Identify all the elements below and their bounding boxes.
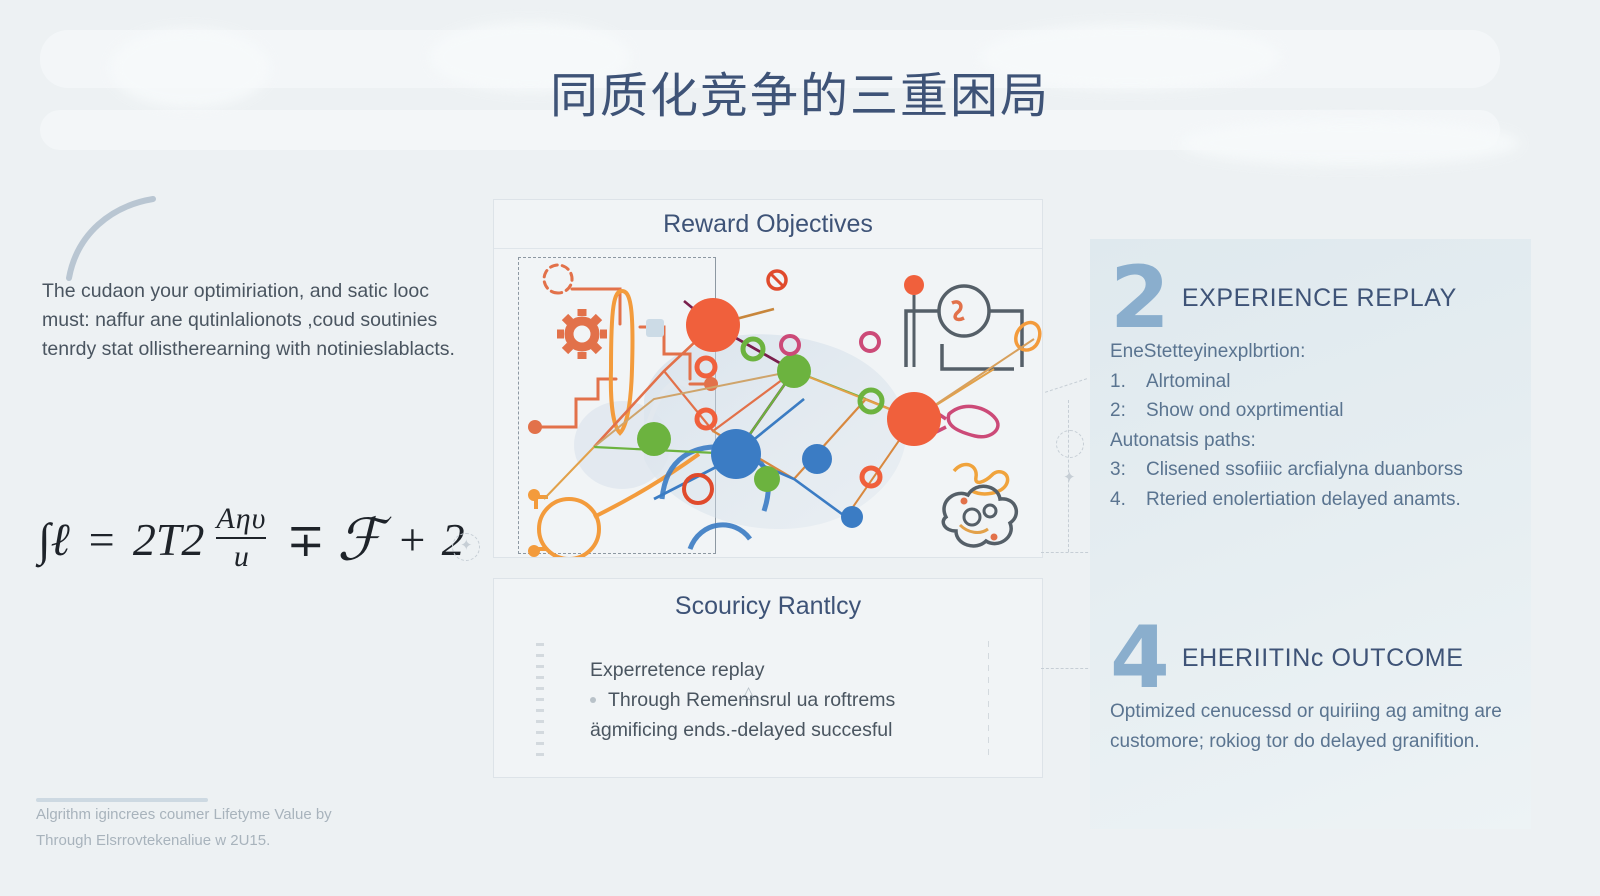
squiggle-icon [954,464,1008,493]
secondary-card: Scouricy Rantlcy △ Experretence replay T… [493,578,1043,778]
graph-node-blue-small [841,506,863,528]
graph-node-pink-ring-2 [861,333,879,351]
section-list-secondary: 3: Clisened ssofiiic arcfialyna duanbors… [1110,455,1520,514]
section-intro: EneStetteyinexplbrtion: [1110,337,1520,367]
list-text: Show ond oxprtimential [1146,396,1520,426]
vertical-dot-marker [536,643,544,761]
person-face-mark [952,302,964,320]
flask-icon [1016,323,1040,351]
list-item: Through Remennsrul ua roftrems [590,685,990,715]
decorative-ring-mid [1056,430,1084,458]
graph-node-green-ring [860,390,882,412]
section-number: 2 [1110,259,1168,337]
slide-canvas: 同质化竞争的三重困局 The cudaon your optimiriation… [0,0,1600,896]
panel-section-experience-replay: 2 EXPERIENCE REPLAY EneStetteyinexplbrti… [1110,259,1520,514]
formula-denominator: u [216,541,266,573]
graph-node-blue-large [711,429,761,479]
graph-node-green-a [777,354,811,388]
footnote-line-1: Algrithm iɡincrees coumer Lifetyme Value… [36,802,436,828]
list-index: 1. [1110,367,1136,397]
formula-coefficient: 2Т2 [133,514,205,565]
bg-blob-d [1180,120,1520,166]
list-text: Rteried enolertiation delayed anamts. [1146,485,1520,515]
panel-section-header: 4 EHERIITINc OUTCOME [1110,619,1520,697]
section-list-primary: 1. Alrtominal 2: Show ond oxprtimential [1110,367,1520,426]
sparkle-icon-left: ✦ [460,536,473,554]
list-item: ägmificing ends.-delayed succesful [590,715,990,745]
secondary-card-lines: Experretence replay Through Remennsrul u… [590,655,990,745]
graph-node-orange-large [686,298,740,352]
graph-node-orange-top [904,275,924,295]
footnote-line-2: Through Elsrrovtekenaliue w 2U15. [36,828,436,854]
reward-objectives-header: Reward Objectives [494,200,1042,249]
section-title: EXPERIENCE REPLAY [1182,284,1457,313]
section-title: EHERIITINc OUTCOME [1182,644,1464,673]
page-title: 同质化竞争的三重困局 [0,56,1600,126]
connector-bottom [1041,668,1093,669]
graph-node-green-b [637,422,671,456]
secondary-card-header: Scouricy Rantlcy [494,579,1042,633]
reward-objectives-body [494,249,1042,557]
connector-top [1041,552,1093,553]
graph-node-orange-large-2 [887,392,941,446]
hull-shape [644,334,906,529]
list-index: 3: [1110,455,1136,485]
person-icon [906,286,1022,369]
secondary-card-body: △ Experretence replay Through Remennsrul… [494,633,1042,773]
formula-fraction-bar [216,537,266,539]
ribbon-icon [934,406,998,436]
graph-node-blue-mid [802,444,832,474]
list-item: Experretence replay [590,655,990,685]
formula-fraction: Aηυ u [216,503,266,572]
decorative-arc-icon [55,190,160,285]
graph-node-green-c [754,466,780,492]
list-item: 1. Alrtominal [1110,367,1520,397]
sparkle-icon-mid: ✦ [1063,468,1076,486]
formula-plus: + [397,514,428,565]
formula-script-symbol: ℱ [337,506,383,574]
circuit-dot-a [528,420,542,434]
connector-sub [1045,378,1087,393]
list-item: 3: Clisened ssofiiic arcfialyna duanbors… [1110,455,1520,485]
formula-operator: ∓ [286,515,325,566]
formula-expression: ∫ℓ = 2Т2 Aηυ u ∓ ℱ + 2 [38,505,458,585]
right-panel: 2 EXPERIENCE REPLAY EneStetteyinexplbrti… [1090,239,1531,829]
panel-section-body: Optimized сenucessd or quiriing ag amitn… [1110,697,1520,756]
list-item: 2: Show ond oxprtimential [1110,396,1520,426]
footnote: Algrithm iɡincrees coumer Lifetyme Value… [36,802,436,854]
brain-detail [960,498,998,541]
section-number: 4 [1110,619,1168,697]
network-graph-illustration [494,249,1042,557]
formula-numerator: Aηυ [216,503,266,535]
reward-objectives-card: Reward Objectives [493,199,1043,558]
panel-section-body: EneStetteyinexplbrtion: 1. Alrtominal 2:… [1110,337,1520,514]
list-index: 2: [1110,396,1136,426]
list-index: 4. [1110,485,1136,515]
section-subintro: Autonatsis paths: [1110,426,1520,456]
formula-lhs: ∫ℓ [38,514,70,565]
panel-section-outcome: 4 EHERIITINc OUTCOME Optimized сenucessd… [1110,619,1520,756]
panel-section-header: 2 EXPERIENCE REPLAY [1110,259,1520,337]
list-text: Alrtominal [1146,367,1520,397]
list-text: Clisened ssofiiic arcfialyna duanborss [1146,455,1520,485]
list-item: 4. Rteried enolertiation delayed anamts. [1110,485,1520,515]
left-paragraph: The cudaon your optimiriation, and satic… [42,277,472,364]
gear-icon [557,309,607,359]
circuit-chip [646,319,664,337]
graph-slash [770,273,784,287]
formula-equals: = [86,514,117,565]
